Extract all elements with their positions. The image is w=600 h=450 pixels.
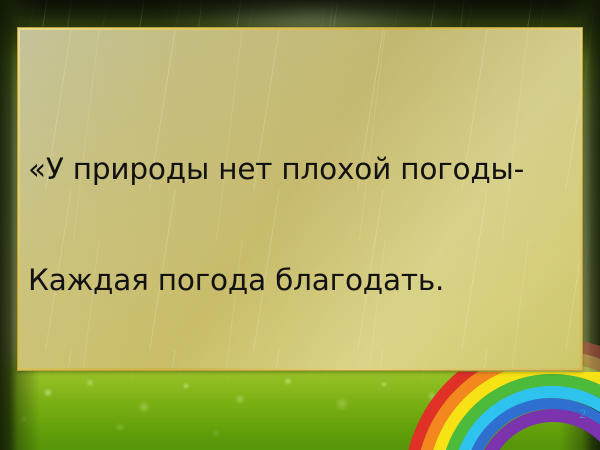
quote-line: «У природы нет плохой погоды-: [28, 151, 578, 188]
slide-number: 2: [580, 406, 587, 422]
quote-text: «У природы нет плохой погоды- Каждая пог…: [28, 77, 578, 368]
quote-frame: «У природы нет плохой погоды- Каждая пог…: [17, 27, 583, 371]
presentation-slide: «У природы нет плохой погоды- Каждая пог…: [0, 0, 600, 450]
quote-panel: «У природы нет плохой погоды- Каждая пог…: [20, 30, 580, 368]
quote-line: Каждая погода благодать.: [28, 262, 578, 299]
